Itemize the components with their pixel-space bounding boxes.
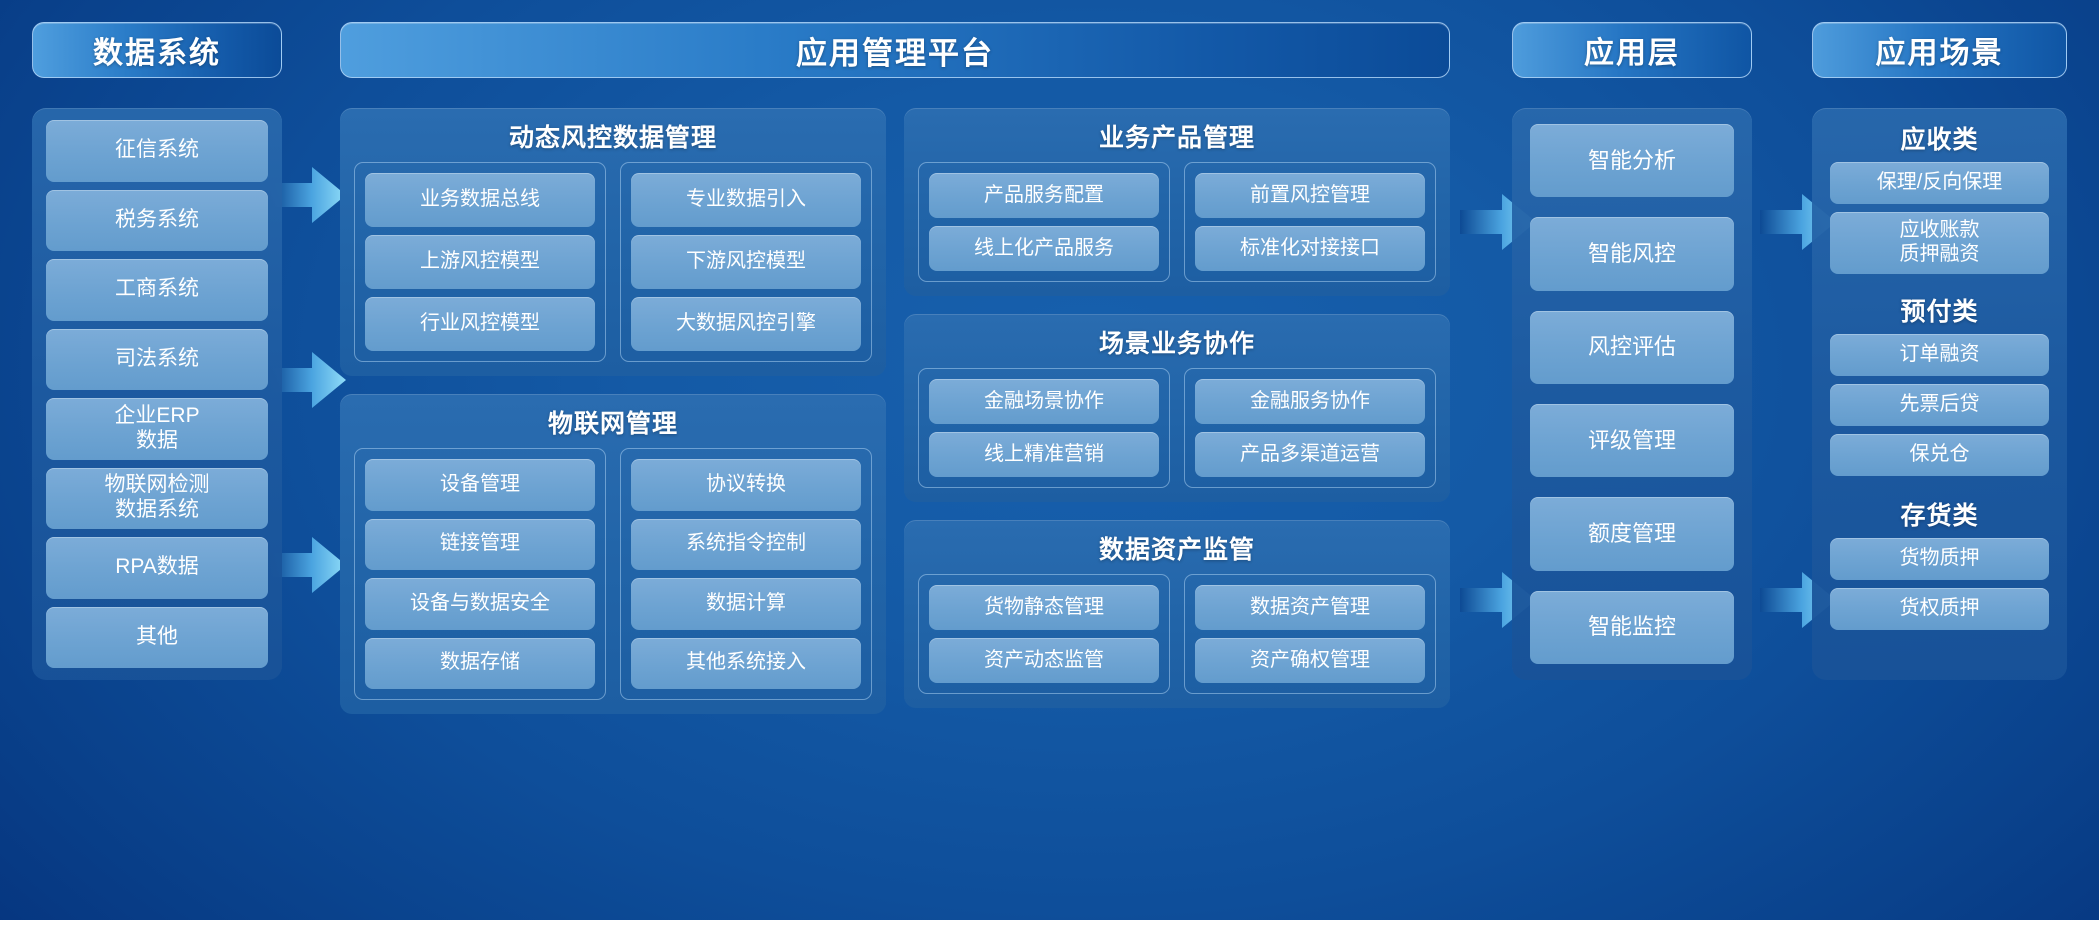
list-item[interactable]: 金融服务协作: [1195, 379, 1425, 424]
group-dynamic-risk-data: 动态风控数据管理 业务数据总线 上游风控模型 行业风控模型 专业数据引入 下游风…: [340, 108, 886, 376]
list-item[interactable]: 订单融资: [1830, 334, 2049, 376]
platform-right-column: 业务产品管理 产品服务配置 线上化产品服务 前置风控管理 标准化对接接口: [904, 108, 1450, 714]
group-title: 业务产品管理: [1099, 118, 1255, 154]
list-item[interactable]: 企业ERP 数据: [46, 398, 268, 460]
group-title: 物联网管理: [548, 404, 678, 440]
subgroup-right: 数据资产管理 资产确权管理: [1184, 574, 1436, 694]
list-item[interactable]: 产品多渠道运营: [1195, 432, 1425, 477]
list-item[interactable]: 先票后贷: [1830, 384, 2049, 426]
list-item[interactable]: 链接管理: [365, 519, 595, 571]
list-item[interactable]: 数据资产管理: [1195, 585, 1425, 630]
column-platform: 应用管理平台 动态风控数据管理 业务数据总线 上游风控模型 行业风控模型: [340, 22, 1450, 714]
section-title-inventory: 存货类: [1830, 496, 2049, 532]
list-item[interactable]: 大数据风控引擎: [631, 297, 861, 351]
list-item[interactable]: 下游风控模型: [631, 235, 861, 289]
list-item[interactable]: 专业数据引入: [631, 173, 861, 227]
platform-left-column: 动态风控数据管理 业务数据总线 上游风控模型 行业风控模型 专业数据引入 下游风…: [340, 108, 886, 714]
list-item[interactable]: 其他系统接入: [631, 638, 861, 690]
column-application-scenarios: 应用场景 应收类 保理/反向保理 应收账款 质押融资 预付类 订单融资 先票后贷…: [1812, 22, 2067, 680]
list-item[interactable]: 设备管理: [365, 459, 595, 511]
list-item[interactable]: 额度管理: [1530, 497, 1734, 570]
list-item[interactable]: 上游风控模型: [365, 235, 595, 289]
group-title: 场景业务协作: [1099, 324, 1255, 360]
list-item[interactable]: 评级管理: [1530, 404, 1734, 477]
subgroup-right: 专业数据引入 下游风控模型 大数据风控引擎: [620, 162, 872, 362]
list-item[interactable]: 前置风控管理: [1195, 173, 1425, 218]
list-item[interactable]: 协议转换: [631, 459, 861, 511]
list-item[interactable]: 保兑仓: [1830, 434, 2049, 476]
subgroup-left: 货物静态管理 资产动态监管: [918, 574, 1170, 694]
list-item[interactable]: 税务系统: [46, 190, 268, 252]
list-item[interactable]: 物联网检测 数据系统: [46, 468, 268, 530]
subgroup-left: 设备管理 链接管理 设备与数据安全 数据存储: [354, 448, 606, 700]
column-data-systems: 数据系统 征信系统 税务系统 工商系统 司法系统 企业ERP 数据 物联网检测 …: [32, 22, 282, 680]
list-item[interactable]: 货权质押: [1830, 588, 2049, 630]
list-item[interactable]: 资产动态监管: [929, 638, 1159, 683]
list-item[interactable]: 线上精准营销: [929, 432, 1159, 477]
list-item[interactable]: 应收账款 质押融资: [1830, 212, 2049, 274]
list-item[interactable]: 智能分析: [1530, 124, 1734, 197]
group-title: 数据资产监管: [1099, 530, 1255, 566]
card-application-layer: 智能分析 智能风控 风控评估 评级管理 额度管理 智能监控: [1512, 108, 1752, 680]
list-item[interactable]: 金融场景协作: [929, 379, 1159, 424]
list-item[interactable]: RPA数据: [46, 537, 268, 599]
list-item[interactable]: 业务数据总线: [365, 173, 595, 227]
group-iot-management: 物联网管理 设备管理 链接管理 设备与数据安全 数据存储 协议转换 系统指令控制: [340, 394, 886, 714]
diagram-stage: 数据系统 征信系统 税务系统 工商系统 司法系统 企业ERP 数据 物联网检测 …: [0, 0, 2099, 950]
platform-body: 动态风控数据管理 业务数据总线 上游风控模型 行业风控模型 专业数据引入 下游风…: [340, 108, 1450, 714]
section-title-prepayment: 预付类: [1830, 292, 2049, 328]
list-item[interactable]: 智能监控: [1530, 591, 1734, 664]
list-item[interactable]: 行业风控模型: [365, 297, 595, 351]
subgroup-right: 前置风控管理 标准化对接接口: [1184, 162, 1436, 282]
header-application-scenarios[interactable]: 应用场景: [1812, 22, 2067, 78]
list-item[interactable]: 资产确权管理: [1195, 638, 1425, 683]
list-item[interactable]: 产品服务配置: [929, 173, 1159, 218]
list-item[interactable]: 智能风控: [1530, 217, 1734, 290]
list-item[interactable]: 工商系统: [46, 259, 268, 321]
card-application-scenarios: 应收类 保理/反向保理 应收账款 质押融资 预付类 订单融资 先票后贷 保兑仓 …: [1812, 108, 2067, 680]
header-data-systems[interactable]: 数据系统: [32, 22, 282, 78]
list-item[interactable]: 线上化产品服务: [929, 226, 1159, 271]
list-item[interactable]: 其他: [46, 607, 268, 669]
column-application-layer: 应用层 智能分析 智能风控 风控评估 评级管理 额度管理 智能监控: [1512, 22, 1752, 680]
group-scenario-collaboration: 场景业务协作 金融场景协作 线上精准营销 金融服务协作 产品多渠道运营: [904, 314, 1450, 502]
subgroup-right: 协议转换 系统指令控制 数据计算 其他系统接入: [620, 448, 872, 700]
subgroup-left: 产品服务配置 线上化产品服务: [918, 162, 1170, 282]
list-item[interactable]: 设备与数据安全: [365, 578, 595, 630]
group-data-asset-supervision: 数据资产监管 货物静态管理 资产动态监管 数据资产管理 资产确权管理: [904, 520, 1450, 708]
group-business-product: 业务产品管理 产品服务配置 线上化产品服务 前置风控管理 标准化对接接口: [904, 108, 1450, 296]
list-item[interactable]: 货物静态管理: [929, 585, 1159, 630]
list-item[interactable]: 数据存储: [365, 638, 595, 690]
list-item[interactable]: 征信系统: [46, 120, 268, 182]
list-item[interactable]: 数据计算: [631, 578, 861, 630]
list-item[interactable]: 系统指令控制: [631, 519, 861, 571]
list-item[interactable]: 标准化对接接口: [1195, 226, 1425, 271]
list-item[interactable]: 司法系统: [46, 329, 268, 391]
subgroup-left: 金融场景协作 线上精准营销: [918, 368, 1170, 488]
list-item[interactable]: 货物质押: [1830, 538, 2049, 580]
card-data-systems: 征信系统 税务系统 工商系统 司法系统 企业ERP 数据 物联网检测 数据系统 …: [32, 108, 282, 680]
header-platform[interactable]: 应用管理平台: [340, 22, 1450, 78]
list-item[interactable]: 风控评估: [1530, 311, 1734, 384]
section-title-receivables: 应收类: [1830, 120, 2049, 156]
subgroup-left: 业务数据总线 上游风控模型 行业风控模型: [354, 162, 606, 362]
group-title: 动态风控数据管理: [509, 118, 717, 154]
diagram-canvas: 数据系统 征信系统 税务系统 工商系统 司法系统 企业ERP 数据 物联网检测 …: [0, 0, 2099, 920]
subgroup-right: 金融服务协作 产品多渠道运营: [1184, 368, 1436, 488]
list-item[interactable]: 保理/反向保理: [1830, 162, 2049, 204]
header-application-layer[interactable]: 应用层: [1512, 22, 1752, 78]
